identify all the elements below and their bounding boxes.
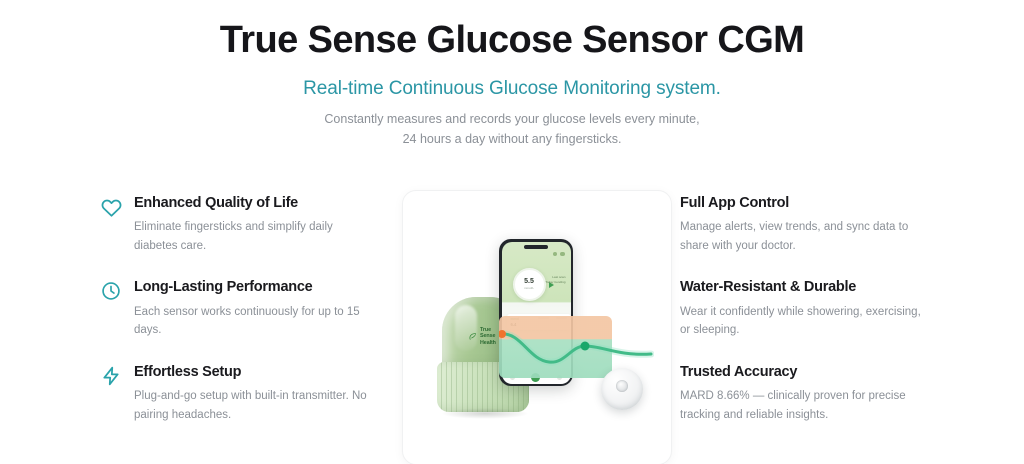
feature-trusted-accuracy: Trusted Accuracy MARD 8.66% — clinically…	[646, 363, 924, 424]
feature-water-resistant-durable: Water-Resistant & Durable Wear it confid…	[646, 278, 924, 339]
feature-description: Manage alerts, view trends, and sync dat…	[680, 218, 924, 255]
phone-status-icons	[553, 252, 565, 257]
feature-description: Eliminate fingersticks and simplify dail…	[134, 218, 368, 255]
applicator-brand-text: True Sense Health	[480, 327, 496, 346]
feature-title: Effortless Setup	[134, 363, 368, 381]
feature-description: MARD 8.66% — clinically proven for preci…	[680, 387, 924, 424]
page-description-line-1: Constantly measures and records your glu…	[0, 109, 1024, 129]
features-column-left: Enhanced Quality of Life Eliminate finge…	[100, 186, 368, 424]
page-subtitle: Real-time Continuous Glucose Monitoring …	[0, 78, 1024, 100]
phone-label-line-2: Today trending	[545, 280, 565, 285]
applicator-brand-logo: True Sense Health	[468, 327, 496, 346]
feature-title: Water-Resistant & Durable	[680, 278, 924, 296]
product-image-card[interactable]: True Sense Health	[402, 190, 672, 464]
glucose-gauge: 5.5 mmol/L	[513, 268, 546, 301]
phone-trend-labels: Last scan Today trending	[545, 275, 565, 286]
phone-notch	[524, 245, 548, 250]
feature-text: Effortless Setup Plug-and-go setup with …	[134, 363, 368, 424]
feature-long-lasting-performance: Long-Lasting Performance Each sensor wor…	[100, 278, 368, 339]
lightning-bolt-icon	[100, 365, 122, 387]
glucose-value: 5.5	[524, 278, 534, 285]
feature-description: Plug-and-go setup with built-in transmit…	[134, 387, 368, 424]
leaf-icon	[468, 331, 477, 342]
feature-text: Full App Control Manage alerts, view tre…	[680, 194, 924, 255]
product-scene: True Sense Health	[403, 191, 671, 464]
page-title: True Sense Glucose Sensor CGM	[0, 18, 1024, 64]
brand-line-2: Sense	[480, 333, 496, 339]
page-description-line-2: 24 hours a day without any fingersticks.	[0, 129, 1024, 149]
feature-title: Trusted Accuracy	[680, 363, 924, 381]
glucose-unit: mmol/L	[524, 286, 534, 290]
feature-text: Long-Lasting Performance Each sensor wor…	[134, 278, 368, 339]
heart-icon	[100, 196, 122, 218]
feature-text: Trusted Accuracy MARD 8.66% — clinically…	[680, 363, 924, 424]
wearable-sensor-puck	[601, 368, 643, 410]
brand-line-3: Health	[480, 340, 496, 346]
feature-effortless-setup: Effortless Setup Plug-and-go setup with …	[100, 363, 368, 424]
page-description: Constantly measures and records your glu…	[0, 109, 1024, 150]
feature-title: Long-Lasting Performance	[134, 278, 368, 296]
feature-title: Full App Control	[680, 194, 924, 212]
feature-enhanced-quality-of-life: Enhanced Quality of Life Eliminate finge…	[100, 194, 368, 255]
feature-text: Water-Resistant & Durable Wear it confid…	[680, 278, 924, 339]
clock-icon	[100, 280, 122, 302]
applicator-shadow	[441, 408, 529, 419]
product-hero-slide: True Sense Glucose Sensor CGM Real-time …	[0, 18, 1024, 464]
feature-description: Each sensor works continuously for up to…	[134, 303, 368, 340]
feature-title: Enhanced Quality of Life	[134, 194, 368, 212]
feature-text: Enhanced Quality of Life Eliminate finge…	[134, 194, 368, 255]
feature-full-app-control: Full App Control Manage alerts, view tre…	[646, 194, 924, 255]
features-column-right: Full App Control Manage alerts, view tre…	[646, 186, 924, 424]
feature-description: Wear it confidently while showering, exe…	[680, 303, 924, 340]
